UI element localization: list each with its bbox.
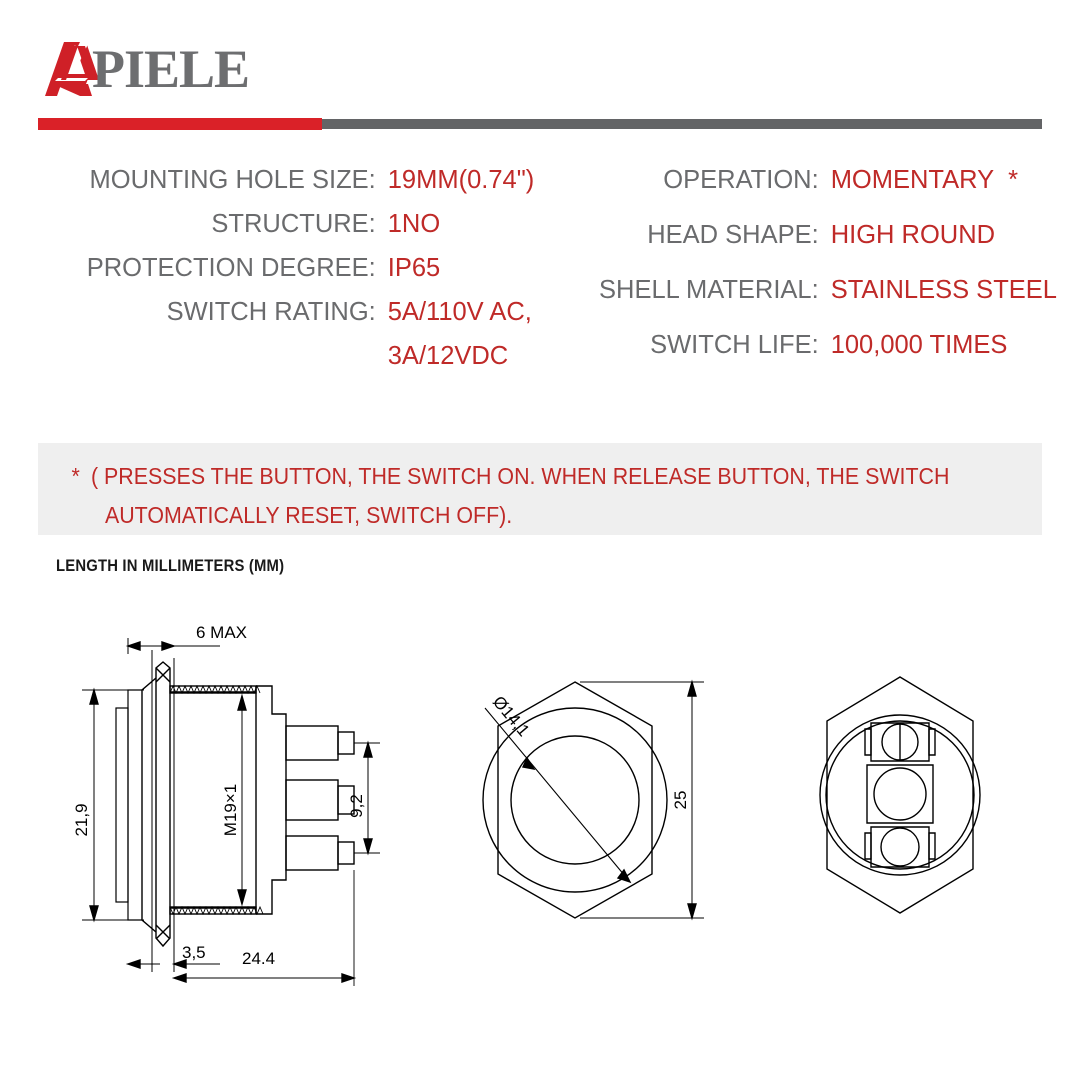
spec-value: HIGH ROUND: [831, 213, 1058, 268]
spec-label: SHELL MATERIAL:: [598, 268, 831, 323]
spec-label: SWITCH LIFE:: [598, 323, 831, 378]
dim-flange-thickness: 3,5: [182, 943, 206, 962]
asterisk-icon: *: [71, 463, 90, 489]
spec-value: 5A/110V AC, 3A/12VDC: [388, 290, 558, 378]
spec-value: STAINLESS STEEL: [831, 268, 1058, 323]
spec-value: 100,000 TIMES: [831, 323, 1058, 378]
spec-row-mounting-hole-size: MOUNTING HOLE SIZE: 19MM(0.74"): [38, 158, 558, 202]
spec-row-switch-rating: SWITCH RATING: 5A/110V AC, 3A/12VDC: [38, 290, 558, 378]
dim-head-height: 21,9: [72, 803, 91, 836]
spec-label: PROTECTION DEGREE:: [38, 246, 388, 290]
footnote-box: *( PRESSES THE BUTTON, THE SWITCH ON. WH…: [38, 443, 1042, 535]
footnote-text-1: ( PRESSES THE BUTTON, THE SWITCH ON. WHE…: [91, 463, 949, 489]
footnote-line-2: AUTOMATICALLY RESET, SWITCH OFF).: [38, 496, 972, 535]
spec-value: IP65: [388, 246, 558, 290]
spec-row-structure: STRUCTURE: 1NO: [38, 202, 558, 246]
spec-label: OPERATION:: [598, 158, 831, 213]
spec-row-protection-degree: PROTECTION DEGREE: IP65: [38, 246, 558, 290]
dim-thread: M19×1: [221, 784, 240, 836]
dim-overall-length: 24.4: [242, 949, 275, 968]
spec-column-right: OPERATION: MOMENTARY* HEAD SHAPE: HIGH R…: [598, 158, 1058, 378]
spec-value-text: MOMENTARY: [831, 166, 994, 194]
spec-label: SWITCH RATING:: [38, 290, 388, 378]
dim-across-flats: 25: [671, 791, 690, 810]
dim-bezel-thickness: 6 MAX: [196, 623, 247, 642]
divider-gray-segment: [322, 119, 1042, 129]
technical-drawings: 6 MAX 21,9 M19×1 9,2 3,5 24.4: [0, 610, 1080, 1010]
spec-label: MOUNTING HOLE SIZE:: [38, 158, 388, 202]
spec-value: 19MM(0.74"): [388, 158, 558, 202]
footnote-marker-icon: *: [994, 166, 1018, 194]
header-divider-bar: [38, 118, 1042, 130]
spec-row-operation: OPERATION: MOMENTARY*: [598, 158, 1058, 213]
front-view-drawing: Ø14,1 25: [430, 650, 720, 950]
page-header: PIELE: [0, 0, 1080, 100]
spec-row-shell-material: SHELL MATERIAL: STAINLESS STEEL: [598, 268, 1058, 323]
spec-value-line2: 3A/12VDC: [388, 334, 558, 378]
brand-logo: PIELE: [44, 38, 1080, 100]
spec-label: STRUCTURE:: [38, 202, 388, 246]
spec-value-line1: 5A/110V AC,: [388, 298, 532, 326]
units-label: LENGTH IN MILLIMETERS (MM): [56, 557, 284, 576]
specification-table: MOUNTING HOLE SIZE: 19MM(0.74") STRUCTUR…: [0, 158, 1080, 378]
spec-row-switch-life: SWITCH LIFE: 100,000 TIMES: [598, 323, 1058, 378]
spec-label: HEAD SHAPE:: [598, 213, 831, 268]
spec-value: 1NO: [388, 202, 558, 246]
divider-red-segment: [38, 118, 322, 130]
rear-view-drawing: [775, 665, 1025, 935]
brand-wordmark: PIELE: [92, 42, 249, 96]
dim-terminal-spacing: 9,2: [347, 794, 366, 818]
spec-row-head-shape: HEAD SHAPE: HIGH ROUND: [598, 213, 1058, 268]
side-view-drawing: 6 MAX 21,9 M19×1 9,2 3,5 24.4: [60, 620, 410, 990]
spec-value: MOMENTARY*: [831, 158, 1058, 213]
spec-column-left: MOUNTING HOLE SIZE: 19MM(0.74") STRUCTUR…: [38, 158, 558, 378]
footnote-line-1: *( PRESSES THE BUTTON, THE SWITCH ON. WH…: [38, 457, 972, 496]
